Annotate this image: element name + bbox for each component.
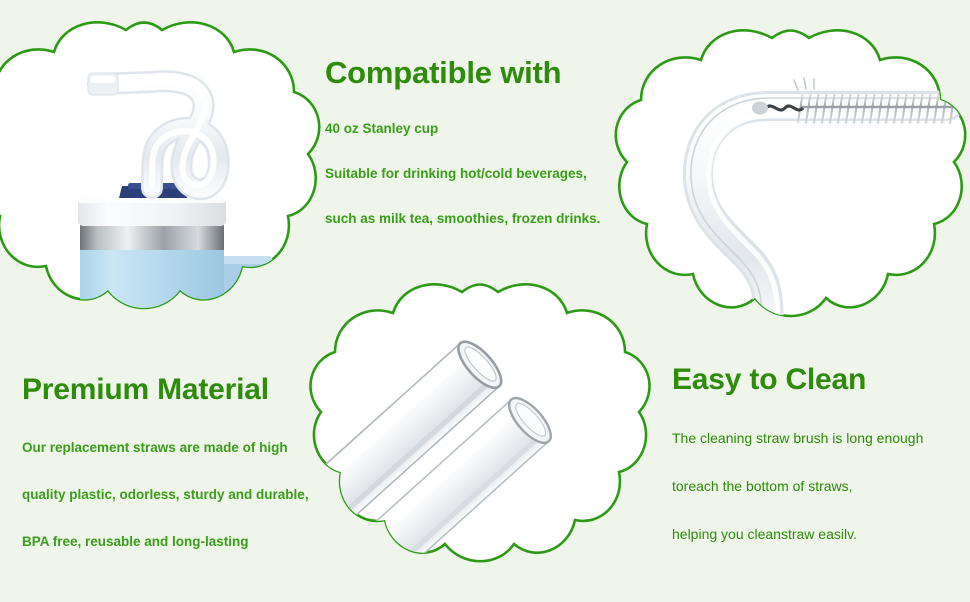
cup-body — [80, 246, 224, 366]
section-compatible-with: Compatible with 40 oz Stanley cup Suitab… — [325, 55, 665, 226]
compatible-line-3: such as milk tea, smoothies, frozen drin… — [325, 211, 665, 226]
premium-line-1: Our replacement straws are made of high — [22, 440, 352, 455]
compatible-line-2: Suitable for drinking hot/cold beverages… — [325, 166, 665, 181]
section-premium-material: Premium Material Our replacement straws … — [22, 372, 352, 549]
clean-line-3: helping you cleanstraw easilv. — [672, 526, 970, 542]
premium-line-2: quality plastic, odorless, sturdy and du… — [22, 487, 352, 502]
scallop-outline-straws — [310, 284, 649, 561]
brush-tip — [752, 102, 768, 115]
premium-line-3: BPA free, reusable and long-lasting — [22, 534, 352, 549]
scallop-outline-brush — [616, 30, 965, 316]
compatible-line-1: 40 oz Stanley cup — [325, 121, 665, 136]
heading-easy-to-clean: Easy to Clean — [672, 362, 970, 398]
heading-premium-material: Premium Material — [22, 372, 352, 408]
cup-silver-band — [80, 224, 224, 250]
badge-cup-with-straw — [2, 18, 322, 363]
infographic-canvas: Compatible with 40 oz Stanley cup Suitab… — [0, 0, 970, 600]
badge-straw-with-brush — [648, 28, 970, 363]
badge-two-straws — [333, 282, 663, 602]
heading-compatible-with: Compatible with — [325, 55, 665, 91]
clean-line-1: The cleaning straw brush is long enough — [672, 430, 970, 446]
section-easy-to-clean: Easy to Clean The cleaning straw brush i… — [672, 362, 970, 542]
clean-line-2: toreach the bottom of straws, — [672, 478, 970, 494]
